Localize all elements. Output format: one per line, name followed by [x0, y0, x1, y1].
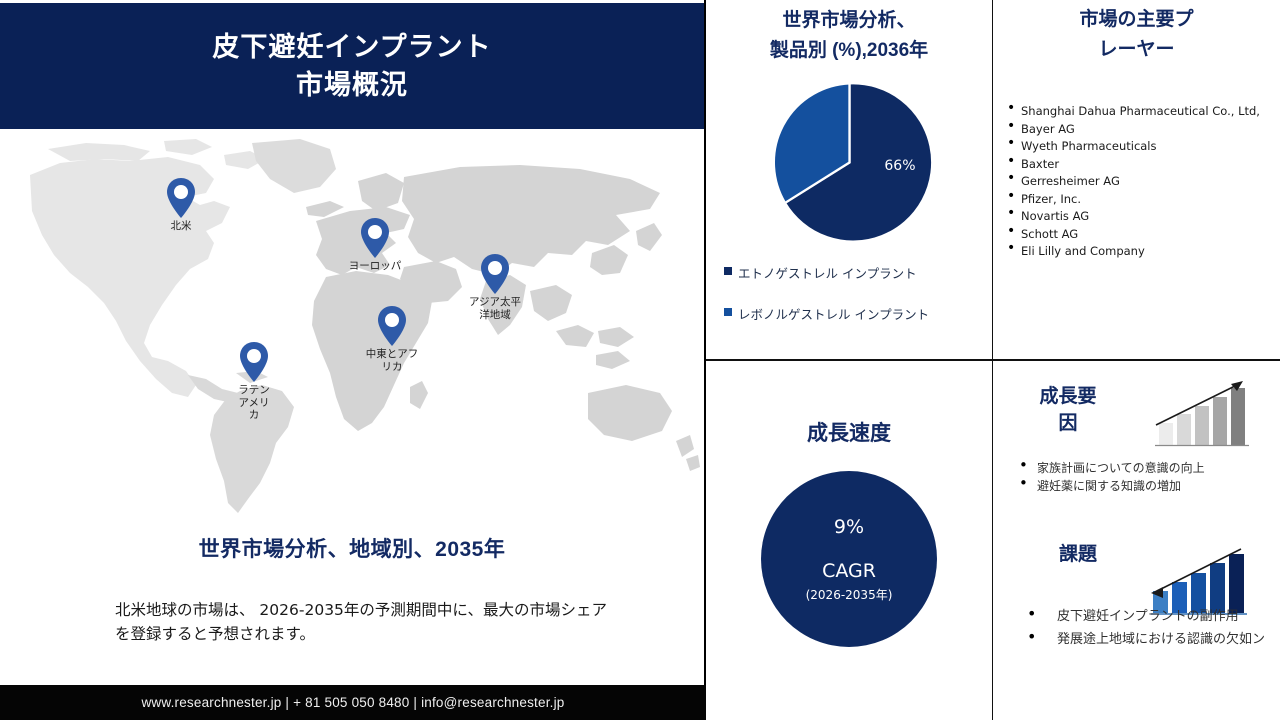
players-title-line1: 市場の主要プ [993, 5, 1280, 35]
footer-contact-text: www.researchnester.jp | + 81 505 050 848… [141, 695, 564, 710]
map-pin-label: アジア太平 洋地域 [464, 296, 526, 321]
list-item: 発展途上地域における認識の欠如ン [1005, 629, 1267, 650]
pie-legend-item-1: エトノゲストレル インプラント [724, 263, 992, 282]
cagr-circle-badge: 9% CAGR (2026-2035年) [761, 471, 937, 647]
legend-label: レボノルゲストレル インプラント [738, 304, 929, 323]
map-pin-label: ラテン アメリ カ [230, 384, 278, 422]
region-analysis-heading: 世界市場分析、地域別、2035年 [0, 533, 704, 563]
key-players-panel: 市場の主要プ レーヤー Shanghai Dahua Pharmaceutica… [993, 0, 1280, 360]
pie-value-label: 66% [884, 158, 915, 174]
map-pin-label: 中東とアフ リカ [360, 348, 424, 373]
challenges-title: 課題 [1023, 541, 1133, 568]
pie-title-line1: 世界市場分析、 [706, 6, 992, 36]
world-map-graphic [0, 135, 704, 525]
list-item: Gerresheimer AG [1021, 173, 1270, 191]
map-pin-icon [230, 341, 278, 383]
pie-chart: 66% [767, 80, 932, 245]
list-item: Eli Lilly and Company [1021, 243, 1270, 261]
growth-factors-title-line1: 成長要 [1013, 383, 1123, 410]
legend-swatch-icon [724, 308, 732, 316]
page-title-line1: 皮下避妊インプラント [212, 28, 491, 66]
list-item: Wyeth Pharmaceuticals [1021, 138, 1270, 156]
map-pin-label: 北米 [158, 220, 204, 233]
growth-factors-title-line2: 因 [1013, 410, 1123, 437]
region-analysis-body: 北米地球の市場は、 2026-2035年の予測期間中に、最大の市場シェアを登録す… [115, 598, 615, 646]
map-pin-latin-america[interactable]: ラテン アメリ カ [230, 341, 278, 422]
world-map-area: 北米 ヨーロッパ アジア太平 洋地域 ラテン アメリ カ [0, 135, 704, 525]
growth-factors-title: 成長要 因 [1013, 383, 1123, 437]
map-pin-north-america[interactable]: 北米 [158, 177, 204, 233]
map-pin-icon [464, 253, 526, 295]
list-item: Pfizer, Inc. [1021, 191, 1270, 209]
header-band: 皮下避妊インプラント 市場概況 [0, 3, 704, 129]
players-title-line2: レーヤー [993, 35, 1280, 65]
cagr-period: (2026-2035年) [806, 586, 893, 603]
map-pin-label: ヨーロッパ [340, 260, 410, 273]
cagr-percent: 9% [834, 516, 864, 538]
map-pin-icon [158, 177, 204, 219]
footer-band: www.researchnester.jp | + 81 505 050 848… [0, 685, 706, 720]
growth-factors-bar-chart [1153, 373, 1253, 456]
map-pin-icon [340, 217, 410, 259]
legend-swatch-icon [724, 267, 732, 275]
page-title-line2: 市場概況 [296, 66, 408, 104]
legend-label: エトノゲストレル インプラント [738, 263, 917, 282]
pie-panel-title: 世界市場分析、 製品別 (%),2036年 [706, 6, 992, 66]
cagr-label: CAGR [822, 560, 876, 582]
pie-legend-item-2: レボノルゲストレル インプラント [724, 304, 992, 323]
list-item: 避妊薬に関する知識の増加 [1005, 477, 1267, 495]
product-share-panel: 世界市場分析、 製品別 (%),2036年 66% エトノゲストレル インプラン… [706, 0, 993, 360]
map-pin-middle-east-africa[interactable]: 中東とアフ リカ [360, 305, 424, 373]
map-pin-asia-pacific[interactable]: アジア太平 洋地域 [464, 253, 526, 321]
cagr-panel-title: 成長速度 [706, 419, 992, 449]
list-item: Bayer AG [1021, 121, 1270, 139]
list-item: Baxter [1021, 156, 1270, 174]
map-pin-europe[interactable]: ヨーロッパ [340, 217, 410, 273]
ascending-bar-chart-icon [1153, 373, 1253, 451]
list-item: Schott AG [1021, 226, 1270, 244]
growth-rate-panel: 成長速度 9% CAGR (2026-2035年) [706, 360, 993, 720]
list-item: 家族計画についての意識の向上 [1005, 459, 1267, 477]
map-pin-icon [360, 305, 424, 347]
left-panel: 皮下避妊インプラント 市場概況 [0, 0, 706, 720]
challenges-list: 皮下避妊インプラントの副作用 発展途上地域における認識の欠如ン [1005, 606, 1267, 652]
list-item: Novartis AG [1021, 208, 1270, 226]
pie-title-line2: 製品別 (%),2036年 [706, 36, 992, 66]
list-item: Shanghai Dahua Pharmaceutical Co., Ltd, [1021, 103, 1270, 121]
drivers-and-challenges-panel: 成長要 因 家族計画についての意識の向上 避妊薬に関する知識の増加 課題 [993, 360, 1280, 720]
key-players-list: Shanghai Dahua Pharmaceutical Co., Ltd, … [993, 103, 1280, 261]
growth-factors-list: 家族計画についての意識の向上 避妊薬に関する知識の増加 [1005, 459, 1267, 495]
infographic-page: 皮下避妊インプラント 市場概況 [0, 0, 1280, 720]
players-panel-title: 市場の主要プ レーヤー [993, 5, 1280, 65]
list-item: 皮下避妊インプラントの副作用 [1005, 606, 1267, 627]
